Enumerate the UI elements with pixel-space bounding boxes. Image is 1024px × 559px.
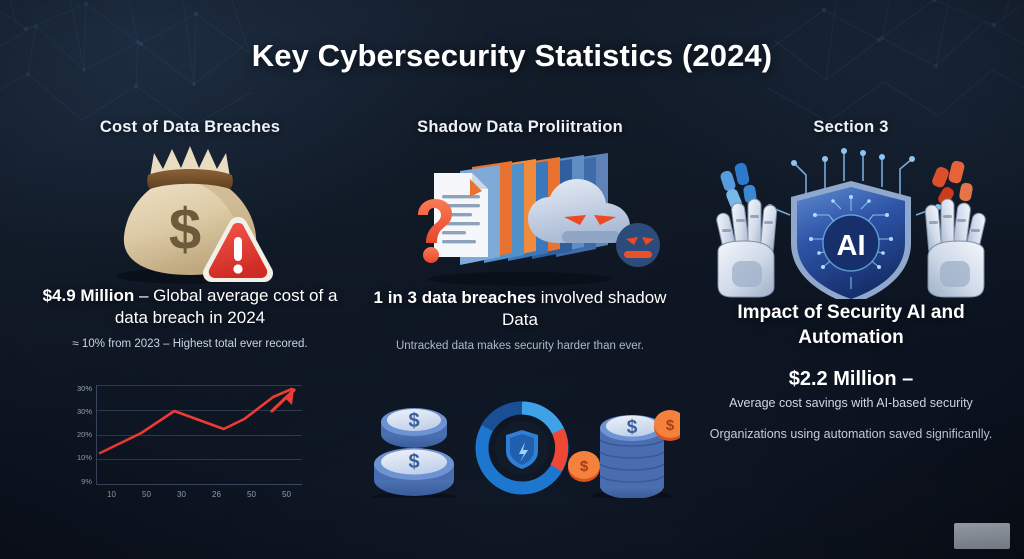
breach-cost-bar-chart: 30%30%20%10%9% 105030265050 <box>66 383 306 513</box>
coin-stack-dollar-icon: $ $ <box>372 408 456 498</box>
section-1-stat-note: ≈ 10% from 2023 – Highest total ever rec… <box>30 337 350 353</box>
robot-hand-left-icon <box>715 199 777 297</box>
page-title: Key Cybersecurity Statistics (2024) <box>0 38 1024 74</box>
section-3-stat-rest: Average cost savings with AI-based secur… <box>686 396 1016 410</box>
section-cost-of-data-breaches: Cost of Data Breaches <box>22 118 358 352</box>
section-3-stat-note: Organizations using automation saved sig… <box>686 427 1016 441</box>
chart-x-tick: 50 <box>137 491 156 499</box>
chart-plot-area <box>96 385 302 485</box>
chart-bars <box>103 385 296 484</box>
section-1-stat-rest: – Global average cost of a data breach i… <box>115 286 338 327</box>
section-2-stat-strong: 1 in 3 data breaches <box>374 288 537 307</box>
section-3-heading: Section 3 <box>686 118 1016 137</box>
documents-cloud-question-icon <box>360 137 680 287</box>
svg-text:$: $ <box>408 451 419 473</box>
savings-icon-row: $ $ $ <box>360 398 680 498</box>
section-2-stat: 1 in 3 data breaches involved shadow Dat… <box>360 287 680 354</box>
section-3-sub-heading: Impact of Security AI and Automation <box>686 301 1016 350</box>
section-1-stat-line: $4.9 Million – Global average cost of a … <box>30 285 350 330</box>
money-bag-warning-icon: $ <box>22 137 358 285</box>
section-2-heading: Shadow Data Proliitration <box>360 118 680 137</box>
chart-y-tick: 20% <box>66 431 92 439</box>
infographic-canvas: Key Cybersecurity Statistics (2024) Cost… <box>0 0 1024 559</box>
section-security-ai-automation: Section 3 <box>686 118 1016 441</box>
svg-text:$: $ <box>580 458 589 475</box>
section-1-artwork: $ <box>22 137 358 285</box>
coin-stack-tall-icon: $ $ <box>568 410 680 498</box>
section-shadow-data-proliferation: Shadow Data Proliitration <box>360 118 680 354</box>
section-1-stat-strong: $4.9 Million <box>43 286 135 305</box>
ai-shield-robot-hands-icon: AI <box>686 137 1016 299</box>
chart-x-axis-labels: 105030265050 <box>96 491 302 499</box>
chart-y-tick: 30% <box>66 385 92 393</box>
svg-text:$: $ <box>666 417 675 434</box>
chart-y-tick: 10% <box>66 454 92 462</box>
section-3-stat-strong: $2.2 Million – <box>686 368 1016 391</box>
chart-x-tick: 26 <box>207 491 226 499</box>
chart-x-tick: 10 <box>102 491 121 499</box>
corner-artifact <box>954 523 1010 549</box>
chart-y-tick: 30% <box>66 408 92 416</box>
section-2-stat-line: 1 in 3 data breaches involved shadow Dat… <box>368 287 672 332</box>
section-1-stat: $4.9 Million – Global average cost of a … <box>22 285 358 352</box>
svg-text:$: $ <box>169 197 201 262</box>
svg-text:AI: AI <box>837 230 866 262</box>
chart-x-tick: 50 <box>277 491 296 499</box>
ai-shield-icon: AI <box>791 181 911 299</box>
section-2-stat-note: Untracked data makes security harder tha… <box>368 339 672 355</box>
chart-x-tick: 50 <box>242 491 261 499</box>
svg-text:$: $ <box>408 410 419 432</box>
section-2-artwork <box>360 137 680 287</box>
section-1-heading: Cost of Data Breaches <box>22 118 358 137</box>
chart-y-tick: 9% <box>66 478 92 486</box>
robot-hand-right-icon <box>925 199 987 297</box>
chart-x-tick: 30 <box>172 491 191 499</box>
chart-y-axis-labels: 30%30%20%10%9% <box>66 385 92 485</box>
svg-text:$: $ <box>627 417 638 438</box>
donut-chart-shield-icon <box>482 408 562 488</box>
section-3-artwork: AI <box>686 137 1016 299</box>
